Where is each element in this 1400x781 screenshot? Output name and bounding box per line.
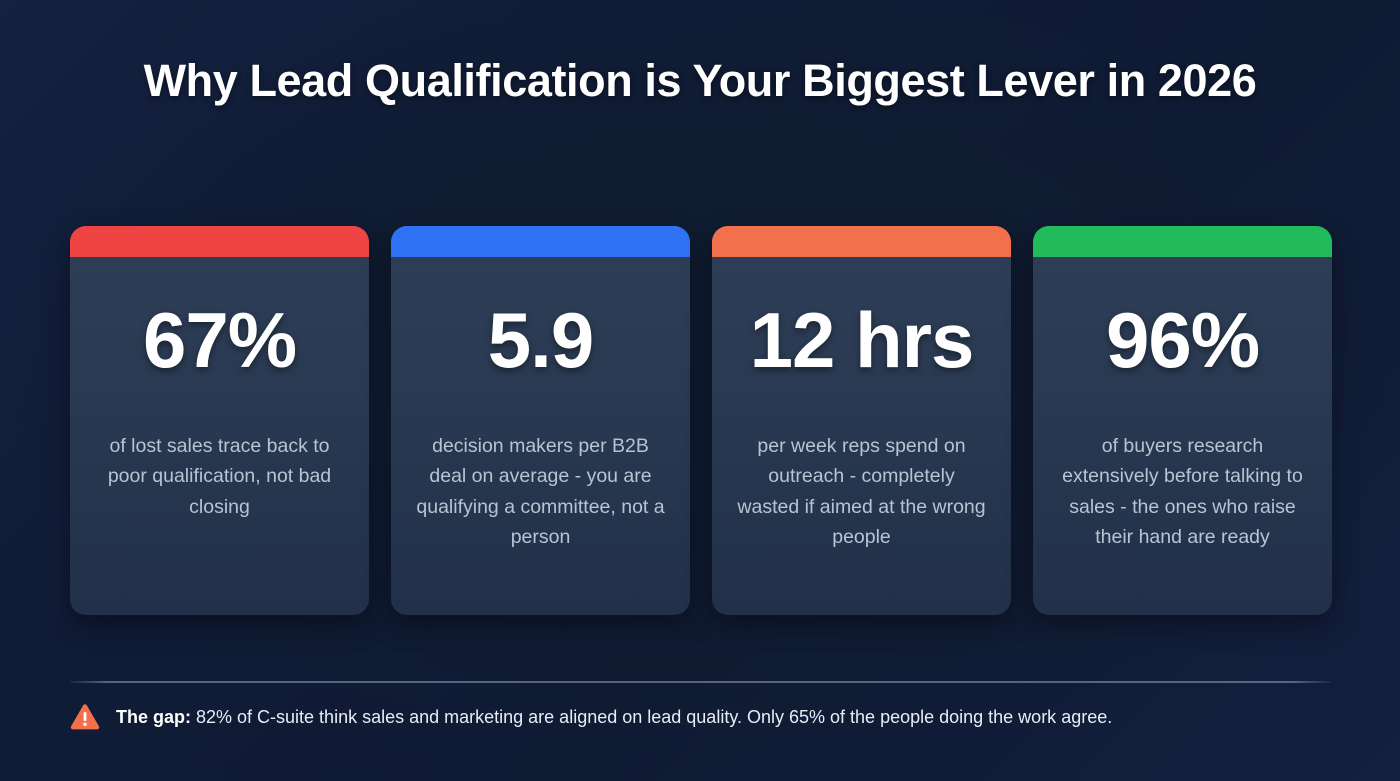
- stat-card-body: 67% of lost sales trace back to poor qua…: [70, 257, 369, 615]
- stat-label: of lost sales trace back to poor qualifi…: [95, 431, 345, 522]
- stat-card: 67% of lost sales trace back to poor qua…: [70, 226, 369, 615]
- card-accent-bar: [712, 226, 1011, 257]
- card-accent-bar: [1033, 226, 1332, 257]
- stat-card-grid: 67% of lost sales trace back to poor qua…: [70, 226, 1332, 615]
- infographic-slide: Why Lead Qualification is Your Biggest L…: [0, 0, 1400, 781]
- stat-value: 96%: [1106, 301, 1259, 379]
- stat-value: 5.9: [488, 301, 593, 379]
- stat-label: per week reps spend on outreach - comple…: [737, 431, 987, 553]
- stat-card-body: 12 hrs per week reps spend on outreach -…: [712, 257, 1011, 615]
- stat-card-body: 5.9 decision makers per B2B deal on aver…: [391, 257, 690, 615]
- warning-triangle-icon: [70, 703, 100, 731]
- title-container: Why Lead Qualification is Your Biggest L…: [0, 0, 1400, 103]
- footer-lead: The gap:: [116, 707, 191, 727]
- stat-value: 67%: [143, 301, 296, 379]
- footer-note: The gap: 82% of C-suite think sales and …: [70, 703, 1332, 731]
- card-accent-bar: [70, 226, 369, 257]
- stat-value: 12 hrs: [750, 301, 974, 379]
- footer-divider: [70, 681, 1331, 683]
- footer-body: 82% of C-suite think sales and marketing…: [191, 707, 1112, 727]
- card-accent-bar: [391, 226, 690, 257]
- stat-label: of buyers research extensively before ta…: [1058, 431, 1308, 553]
- stat-card: 12 hrs per week reps spend on outreach -…: [712, 226, 1011, 615]
- footer-text: The gap: 82% of C-suite think sales and …: [116, 705, 1112, 729]
- page-title: Why Lead Qualification is Your Biggest L…: [0, 58, 1400, 103]
- stat-card-body: 96% of buyers research extensively befor…: [1033, 257, 1332, 615]
- stat-label: decision makers per B2B deal on average …: [416, 431, 666, 553]
- stat-card: 96% of buyers research extensively befor…: [1033, 226, 1332, 615]
- stat-card: 5.9 decision makers per B2B deal on aver…: [391, 226, 690, 615]
